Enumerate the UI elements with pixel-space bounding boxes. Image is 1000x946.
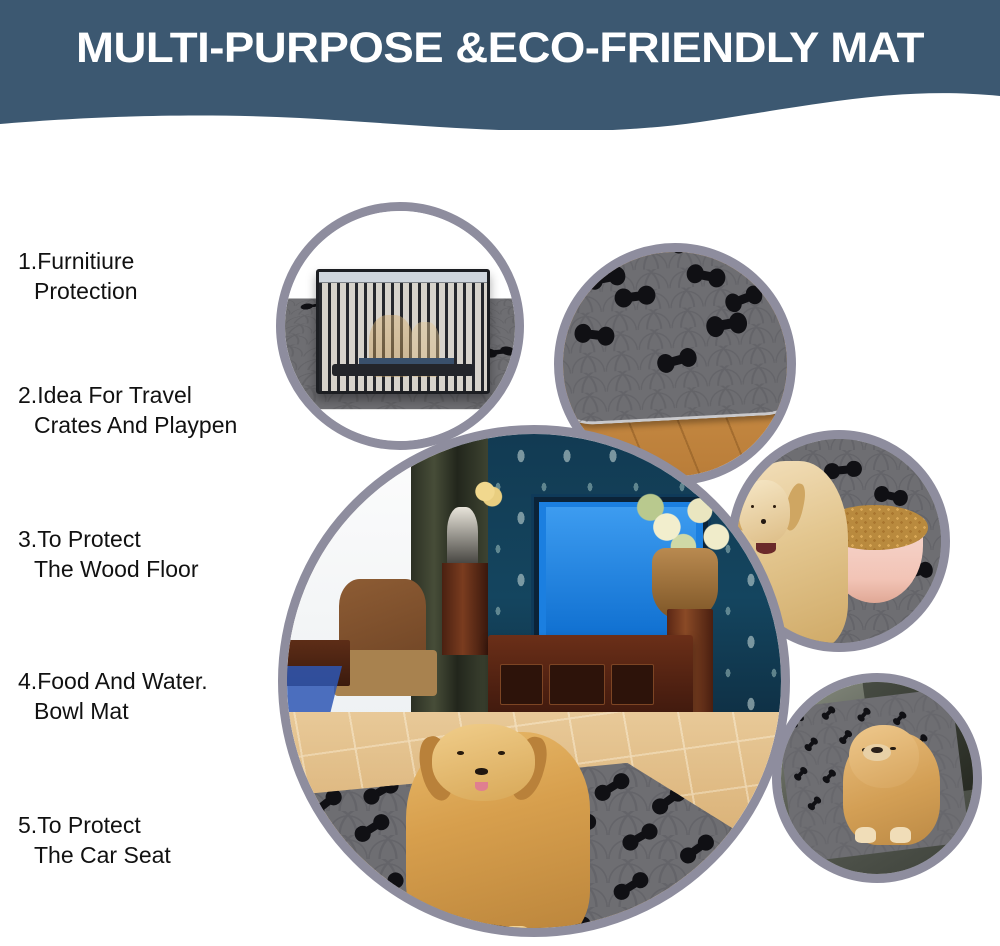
bulldog-puppy xyxy=(843,732,940,845)
living-room-scene xyxy=(278,425,790,937)
feature-3-number: 3. xyxy=(18,526,37,552)
feature-1-line1: Furnitiure xyxy=(37,248,134,274)
feature-5-number: 5. xyxy=(18,812,37,838)
feature-item-1: 1.Furnitiure Protection xyxy=(0,246,278,306)
page-title: MULTI-PURPOSE &ECO-FRIENDLY MAT xyxy=(0,24,1000,73)
crate-scene xyxy=(276,202,524,450)
feature-1-number: 1. xyxy=(18,248,37,274)
feature-4-number: 4. xyxy=(18,668,37,694)
wall-lamp xyxy=(467,466,503,517)
feature-item-3: 3.To Protect The Wood Floor xyxy=(0,524,278,584)
feature-1-line2: Protection xyxy=(18,276,278,306)
car-seat-photo xyxy=(772,673,982,883)
feature-item-4: 4.Food And Water. Bowl Mat xyxy=(0,666,278,726)
feature-list: 1.Furnitiure Protection 2.Idea For Trave… xyxy=(0,246,278,870)
feature-3-line1: To Protect xyxy=(37,526,141,552)
living-room-photo xyxy=(278,425,790,937)
mat-corner-on-wood xyxy=(554,243,796,427)
pedestal-stand xyxy=(442,563,488,655)
crate-cage xyxy=(316,269,491,394)
dog-crate-photo xyxy=(276,202,524,450)
golden-retriever-lying xyxy=(406,732,590,937)
feature-item-5: 5.To Protect The Car Seat xyxy=(0,810,278,870)
feature-3-line2: The Wood Floor xyxy=(18,554,278,584)
feature-4-line1: Food And Water. xyxy=(37,668,207,694)
feature-2-line1: Idea For Travel xyxy=(37,382,192,408)
feature-2-line2: Crates And Playpen xyxy=(18,410,278,440)
car-seat-scene xyxy=(772,673,982,883)
header-banner: MULTI-PURPOSE &ECO-FRIENDLY MAT xyxy=(0,0,1000,130)
feature-5-line1: To Protect xyxy=(37,812,141,838)
feature-5-line2: The Car Seat xyxy=(18,840,278,870)
feature-4-line2: Bowl Mat xyxy=(18,696,278,726)
feature-item-2: 2.Idea For Travel Crates And Playpen xyxy=(0,380,278,440)
feature-2-number: 2. xyxy=(18,382,37,408)
bust-statue xyxy=(447,507,478,568)
